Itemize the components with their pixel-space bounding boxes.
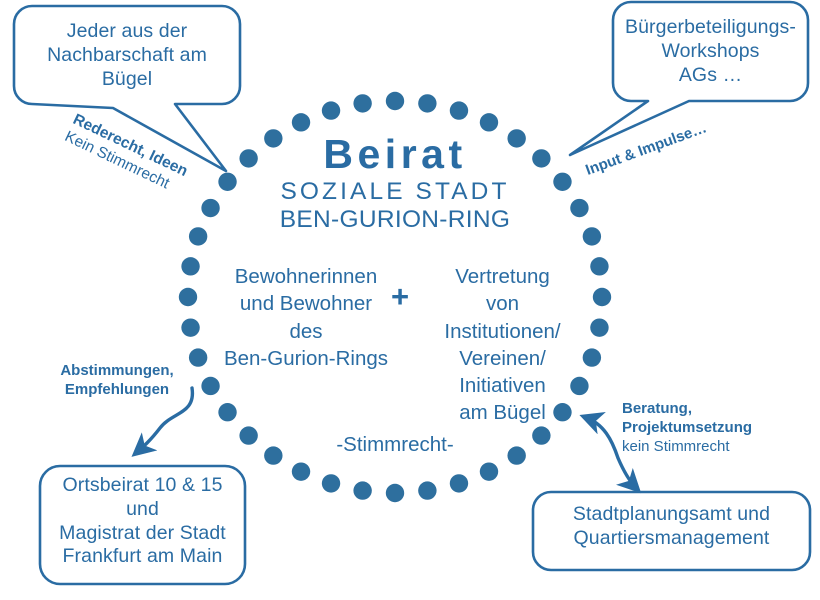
ring-dot bbox=[189, 227, 207, 245]
ring-dot bbox=[386, 484, 404, 502]
annotation-beratung: Beratung, Projektumsetzung kein Stimmrec… bbox=[622, 400, 802, 456]
ring-dot bbox=[418, 481, 436, 499]
ring-dot bbox=[532, 426, 550, 444]
ring-dot bbox=[239, 426, 257, 444]
ring-dot bbox=[590, 318, 608, 336]
ring-dot bbox=[179, 288, 197, 306]
ring-dot bbox=[264, 446, 282, 464]
ring-dot bbox=[201, 199, 219, 217]
ring-dot bbox=[181, 257, 199, 275]
bubble-participation-text: Bürgerbeteiligungs- Workshops AGs … bbox=[617, 16, 804, 87]
ring-dot bbox=[201, 377, 219, 395]
ring-dot bbox=[507, 446, 525, 464]
annotation-abstimmungen: Abstimmungen, Empfehlungen bbox=[42, 362, 192, 400]
annotation-beratung-light: kein Stimmrecht bbox=[622, 438, 802, 457]
ring-dot bbox=[570, 199, 588, 217]
ring-dot bbox=[239, 149, 257, 167]
ring-dot bbox=[386, 92, 404, 110]
ring-dot bbox=[292, 462, 310, 480]
box-ortsbeirat-text: Ortsbeirat 10 & 15 und Magistrat der Sta… bbox=[44, 474, 241, 569]
ring-dot bbox=[353, 481, 371, 499]
members-right-column: Vertretung von Institutionen/ Vereinen/ … bbox=[425, 263, 580, 427]
annotation-beratung-strong: Beratung, Projektumsetzung bbox=[622, 400, 802, 438]
annotation-abstimmungen-strong: Abstimmungen, Empfehlungen bbox=[42, 362, 192, 400]
ring-dot bbox=[593, 288, 611, 306]
ring-title: Beirat bbox=[275, 129, 515, 179]
ring-subtitle-1: SOZIALE STADT bbox=[275, 177, 515, 207]
ring-dot bbox=[532, 149, 550, 167]
box-stadtplanungsamt-text: Stadtplanungsamt und Quartiersmanagement bbox=[540, 503, 803, 551]
bubble-neighbourhood-text: Jeder aus der Nachbarschaft am Bügel bbox=[22, 20, 232, 91]
diagram-canvas: Jeder aus der Nachbarschaft am Bügel Red… bbox=[0, 0, 820, 600]
ring-dot bbox=[218, 173, 236, 191]
ring-dot bbox=[450, 474, 468, 492]
ring-dot bbox=[480, 462, 498, 480]
ring-dot bbox=[181, 318, 199, 336]
plus-sign: + bbox=[385, 278, 415, 316]
ring-dot bbox=[353, 94, 371, 112]
ring-dot bbox=[583, 227, 601, 245]
ring-dot bbox=[322, 101, 340, 119]
ring-subtitle-2: BEN-GURION-RING bbox=[275, 205, 515, 235]
ring-dot bbox=[553, 173, 571, 191]
members-left-column: Bewohnerinnen und Bewohner des Ben-Gurio… bbox=[216, 263, 396, 372]
ring-dot bbox=[583, 348, 601, 366]
ring-dot bbox=[450, 101, 468, 119]
ring-dot bbox=[418, 94, 436, 112]
ring-note-stimmrecht: -Stimmrecht- bbox=[305, 432, 485, 457]
ring-dot bbox=[218, 403, 236, 421]
ring-dot bbox=[590, 257, 608, 275]
ring-dot bbox=[322, 474, 340, 492]
